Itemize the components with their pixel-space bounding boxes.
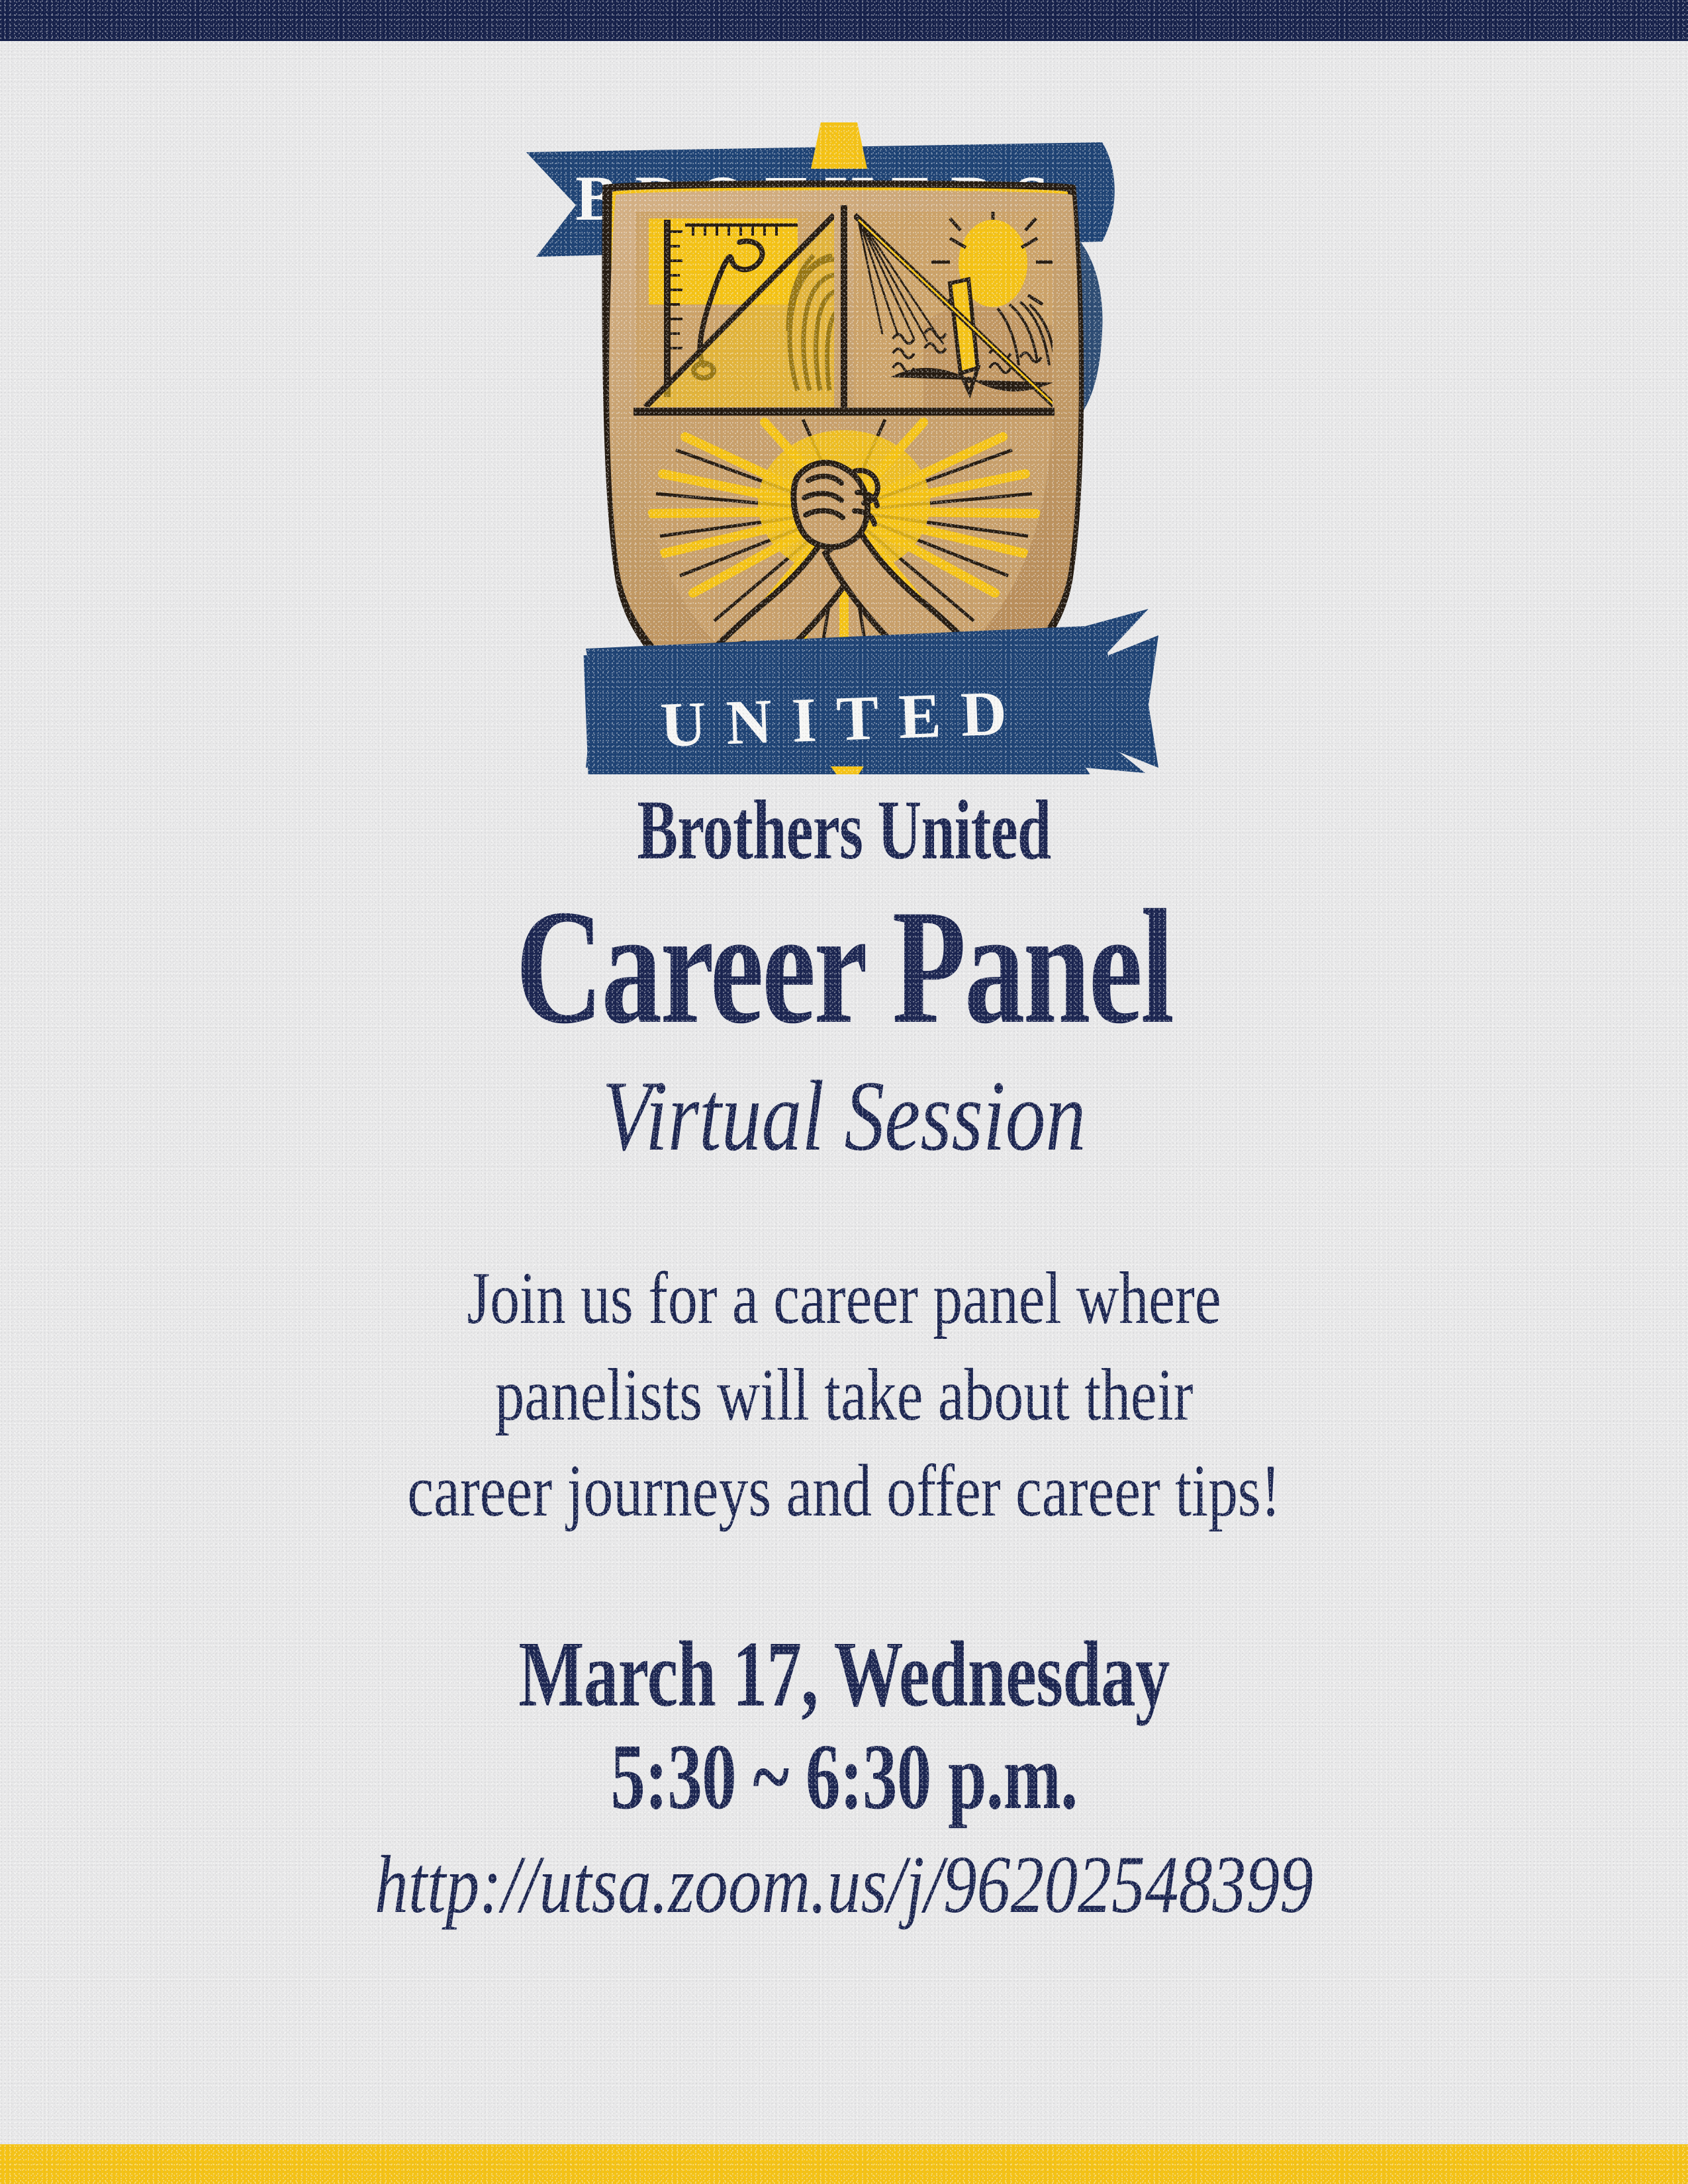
poster-canvas: BROTHERS xyxy=(0,0,1688,2184)
crest-emblem-fingerprint-ruler xyxy=(635,212,868,410)
event-time: 5:30 ~ 6:30 p.m. xyxy=(220,1729,1469,1825)
description-line-3: career journeys and offer career tips! xyxy=(314,1443,1374,1540)
crest-bottom-banner-label: UNITED xyxy=(659,676,1028,760)
event-zoom-link[interactable]: http://utsa.zoom.us/j/96202548399 xyxy=(152,1842,1536,1928)
page-title: Career Panel xyxy=(220,888,1469,1046)
poster-content: Brothers United Career Panel Virtual Ses… xyxy=(0,788,1688,1928)
bottom-accent-bar xyxy=(0,2144,1688,2184)
brothers-united-crest-logo: BROTHERS xyxy=(487,106,1201,774)
headline-kicker: Brothers United xyxy=(236,788,1452,872)
headline-subtitle: Virtual Session xyxy=(169,1066,1519,1166)
description-block: Join us for a career panel where panelis… xyxy=(182,1251,1506,1540)
event-details-block: March 17, Wednesday 5:30 ~ 6:30 p.m. htt… xyxy=(0,1626,1688,1928)
event-date: March 17, Wednesday xyxy=(220,1626,1469,1722)
description-line-1: Join us for a career panel where xyxy=(314,1251,1374,1347)
top-accent-bar xyxy=(0,0,1688,41)
description-line-2: panelists will take about their xyxy=(314,1347,1374,1444)
crest-emblem-quill-sun-field xyxy=(854,205,1056,410)
